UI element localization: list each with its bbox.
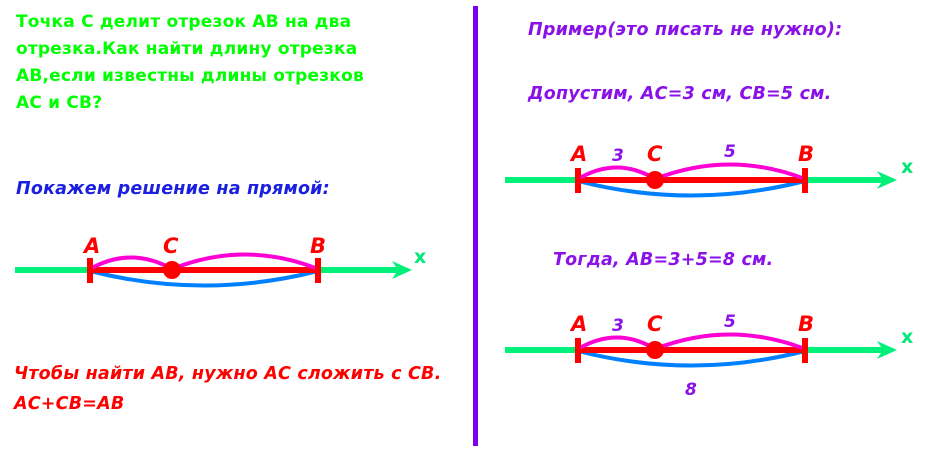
conclusion-line-2: АС+СВ=АВ (14, 390, 124, 418)
question-line-2: отрезка.Как найти длину отрезка (16, 37, 357, 62)
column-divider (473, 6, 478, 446)
label-axis-x: x (901, 328, 913, 347)
label-length-cb: 5 (724, 314, 736, 331)
label-length-ab: 8 (685, 382, 697, 399)
arc-ab-blue (578, 351, 805, 366)
label-point-c: C (163, 236, 178, 257)
arc-cb-magenta (655, 335, 805, 350)
label-point-a: A (84, 236, 100, 257)
example-heading: Пример(это писать не нужно): (528, 18, 842, 43)
number-line-svg (495, 318, 943, 408)
question-line-4: АС и СВ? (16, 91, 102, 116)
point-c-dot (163, 261, 181, 279)
label-point-b: B (310, 236, 326, 257)
number-line-diagram-example-bottom: A 3 C 5 B 8 x (495, 318, 943, 408)
example-result: Тогда, АВ=3+5=8 см. (553, 248, 773, 273)
label-point-c: C (647, 314, 662, 335)
label-point-a: A (571, 144, 587, 165)
label-point-c: C (647, 144, 662, 165)
question-line-3: АВ,если известны длины отрезков (16, 64, 364, 89)
label-axis-x: x (414, 248, 426, 267)
number-line-svg (0, 238, 450, 308)
conclusion-line-1: Чтобы найти АВ, нужно АС сложить с СВ. (14, 360, 441, 388)
label-point-a: A (571, 314, 587, 335)
number-line-svg (495, 148, 943, 218)
slide-canvas: Точка С делит отрезок АВ на два отрезка.… (0, 0, 943, 452)
instruction-text: Покажем решение на прямой: (16, 177, 330, 202)
number-line-diagram-example-top: A 3 C 5 B x (495, 148, 943, 218)
label-point-b: B (798, 144, 814, 165)
arc-cb-magenta (655, 165, 805, 180)
example-given: Допустим, АС=3 см, СВ=5 см. (528, 82, 832, 107)
arc-ab-blue (578, 181, 805, 196)
number-line-diagram-main: A C B x (0, 238, 450, 308)
label-length-cb: 5 (724, 144, 736, 161)
label-length-ac: 3 (612, 318, 624, 335)
point-c-dot (646, 341, 664, 359)
arc-ab-blue (90, 271, 318, 286)
label-axis-x: x (901, 158, 913, 177)
label-length-ac: 3 (612, 148, 624, 165)
question-line-1: Точка С делит отрезок АВ на два (16, 10, 351, 35)
arc-cb-magenta (172, 255, 318, 270)
point-c-dot (646, 171, 664, 189)
label-point-b: B (798, 314, 814, 335)
